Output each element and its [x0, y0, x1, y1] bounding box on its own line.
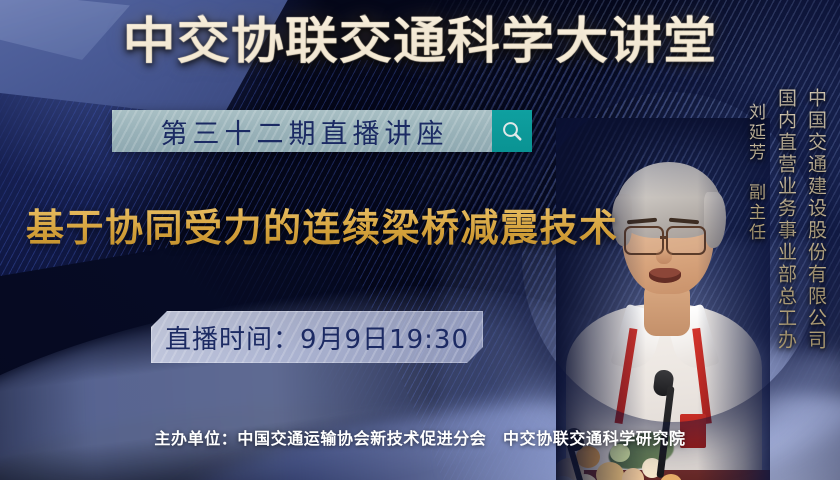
search-icon: [500, 119, 524, 143]
speaker-company: 中国交通建设股份有限公司: [803, 88, 830, 352]
episode-banner-body: 第三十二期直播讲座: [112, 110, 492, 152]
page-title: 中交协联交通科学大讲堂: [0, 16, 840, 66]
organizers-footer: 主办单位：中国交通运输协会新技术促进分会 中交协联交通科学研究院: [0, 425, 840, 449]
broadcast-time-text: 直播时间：9月9日19:30: [165, 319, 469, 356]
webinar-poster: 中交协联交通科学大讲堂 第三十二期直播讲座 基于协同受力的连续梁桥减震技术 直播…: [0, 0, 840, 480]
episode-label: 第三十二期直播讲座: [156, 112, 449, 151]
speaker-name-title: 刘延芳 副主任: [743, 103, 768, 243]
speaker-department: 国内直营业务事业部总工办: [773, 88, 800, 352]
search-button[interactable]: [492, 110, 532, 152]
speaker-glasses-bridge: [660, 236, 668, 239]
episode-banner: 第三十二期直播讲座: [112, 110, 532, 152]
speaker-mouth: [649, 268, 681, 283]
speaker-nose: [656, 248, 672, 264]
speaker-glasses-right-lens: [666, 226, 706, 255]
flower-petal: [596, 462, 624, 480]
speaker-hair-side-right: [704, 192, 726, 248]
flower-petal: [622, 468, 644, 480]
lecture-headline: 基于协同受力的连续梁桥减震技术: [26, 207, 619, 251]
broadcast-time-chip: 直播时间：9月9日19:30: [151, 311, 483, 363]
